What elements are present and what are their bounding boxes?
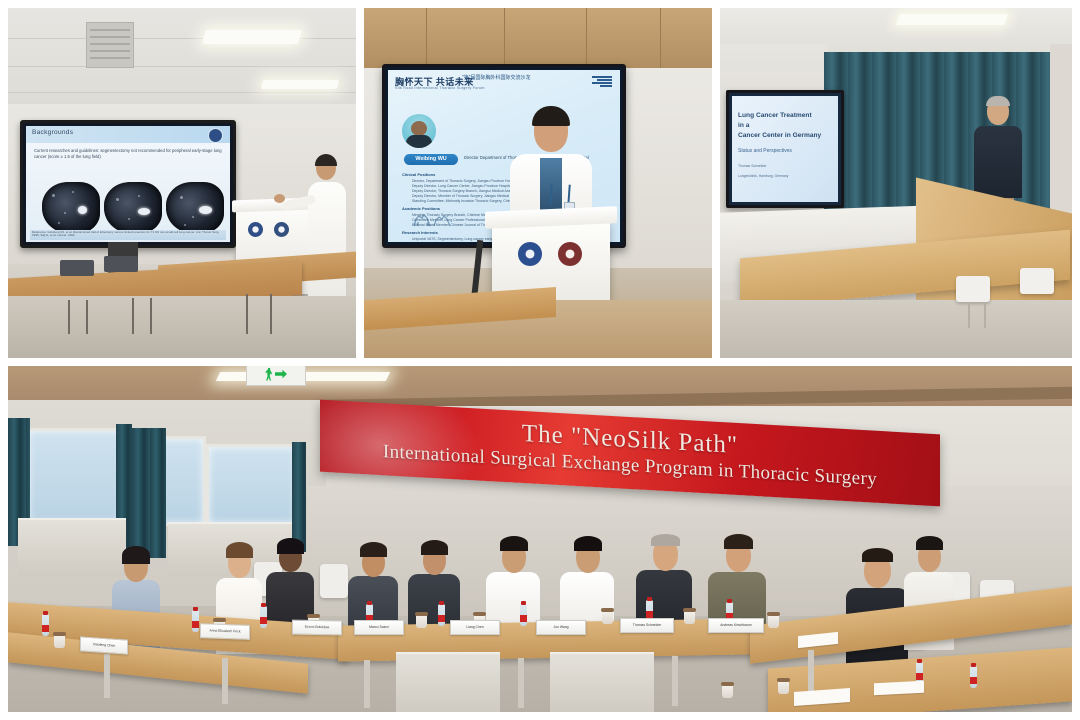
side-cabinet [396, 652, 500, 712]
podium-emblem-maroon-icon [558, 242, 582, 266]
ceiling-lamp [202, 30, 302, 44]
ceiling-lamp [896, 14, 1008, 25]
hair [122, 546, 150, 564]
name-placard: Jun Wang [536, 620, 586, 635]
ceiling [8, 8, 356, 106]
hair [500, 536, 528, 551]
floor [8, 296, 356, 358]
coffee-cup [768, 614, 779, 628]
name-placard: Anna Elisabeth Frick [200, 623, 250, 640]
podium-emblem-hospital-icon [248, 222, 263, 237]
hair [651, 534, 680, 546]
side-cabinet [550, 652, 654, 712]
hair [421, 540, 448, 555]
name-placard: Thomas Schneider [620, 618, 674, 633]
slide-line-1: Lung Cancer Treatment [738, 112, 812, 119]
ct-scan-image [42, 182, 100, 234]
ceiling-vent-icon [86, 22, 134, 68]
slide-section-1: Clinical Positions [402, 172, 435, 177]
coffee-cup [778, 680, 789, 694]
slide-author: Thomas Schneider [738, 164, 766, 168]
window-curtain [132, 428, 166, 558]
coffee-cup [602, 610, 613, 624]
blazer [974, 126, 1022, 198]
speaker-portrait [402, 114, 436, 148]
name-placard: Servet Bolukbas [292, 620, 342, 636]
hair [986, 96, 1010, 106]
coffee-cup [722, 684, 733, 698]
table-leg [222, 658, 228, 704]
chair [60, 260, 94, 276]
table-leg [104, 654, 110, 698]
slide-section-3: Research Interests [402, 230, 438, 235]
slide-footer-reference: Reference: Ginsberg RJ, et al. Randomize… [30, 230, 226, 240]
hair [277, 538, 304, 554]
water-bottle [192, 610, 199, 632]
ct-scan-image [104, 182, 162, 234]
ct-scan-image [166, 182, 224, 234]
photo-collage: Backgrounds Current researches and guide… [0, 0, 1080, 720]
slide-line-3: Cancer Center in Germany [738, 132, 821, 139]
slide-event-title-cn: "第"届国际胸外科国际交流沙龙 [462, 74, 531, 81]
water-bottle [260, 606, 267, 628]
slide-line-4: Status and Perspectives [738, 148, 792, 154]
water-bottle [520, 604, 527, 626]
name-placard: Andreas Kirschbaum [708, 618, 764, 633]
wooden-cabinet [364, 8, 712, 70]
hair [574, 536, 602, 551]
water-bottle [970, 666, 977, 688]
slide-title: Backgrounds [32, 129, 73, 136]
exit-running-man-icon [265, 368, 273, 381]
radiator-cabinet [18, 518, 126, 576]
table-leg [672, 656, 678, 706]
emergency-exit-sign [246, 366, 306, 386]
hair [315, 154, 337, 166]
ceiling-lamp [261, 80, 339, 89]
podium-emblem-university-icon [274, 222, 289, 237]
presenter-figure [304, 154, 348, 304]
hair [724, 534, 753, 549]
water-bottle [42, 614, 49, 636]
water-bottle [438, 604, 445, 626]
hair [532, 106, 570, 126]
slide-lung-cancer-germany: Lung Cancer Treatment in a Cancer Center… [732, 96, 838, 202]
hair [862, 548, 893, 562]
chair [1020, 268, 1054, 294]
chair [104, 256, 138, 272]
hair [916, 536, 943, 550]
name-placard: Liang Chen [450, 620, 500, 635]
forum-logo-icon [590, 75, 612, 88]
speaker-name-pill: Weibing WU [404, 154, 458, 165]
coffee-cup [684, 610, 695, 624]
table-leg [518, 658, 524, 708]
table-leg [364, 660, 370, 708]
hair [360, 542, 387, 557]
photo-panel-group-discussion: The "NeoSilk Path" International Surgica… [8, 366, 1072, 712]
photo-panel-speaker-middle: 胸怀天下 共话未来 "第"届国际胸外科国际交流沙龙 Silk Road Inte… [364, 8, 712, 358]
hair [226, 542, 253, 558]
coffee-cup [416, 614, 427, 628]
podium-emblem-blue-icon [518, 242, 542, 266]
window [206, 444, 298, 526]
silk-road-camel-icon [408, 206, 454, 230]
hand-with-pointer [274, 194, 285, 203]
exit-arrow-icon [275, 369, 287, 379]
presentation-screen: Backgrounds Current researches and guide… [20, 120, 236, 248]
slide-bullet: Current researches and guidelines: segme… [34, 148, 222, 160]
photo-panel-presenter-right: Lung Cancer Treatment in a Cancer Center… [720, 8, 1072, 358]
presentation-screen: Lung Cancer Treatment in a Cancer Center… [726, 90, 844, 208]
chair [956, 276, 990, 302]
slide-subtitle-en: Silk Road International Thoracic Surgery… [395, 86, 485, 90]
slide-backgrounds: Backgrounds Current researches and guide… [26, 126, 230, 242]
window [26, 428, 124, 526]
floor [720, 300, 1072, 358]
name-placard: Marco Scarci [354, 620, 404, 635]
slide-line-2: in a [738, 122, 749, 129]
chair [320, 564, 348, 598]
slide-affiliation: Lungenklinik, Hamburg, Germany [738, 174, 789, 178]
coffee-cup [54, 634, 65, 648]
photo-panel-presenter-left: Backgrounds Current researches and guide… [8, 8, 356, 358]
hospital-crest-icon [208, 128, 223, 143]
